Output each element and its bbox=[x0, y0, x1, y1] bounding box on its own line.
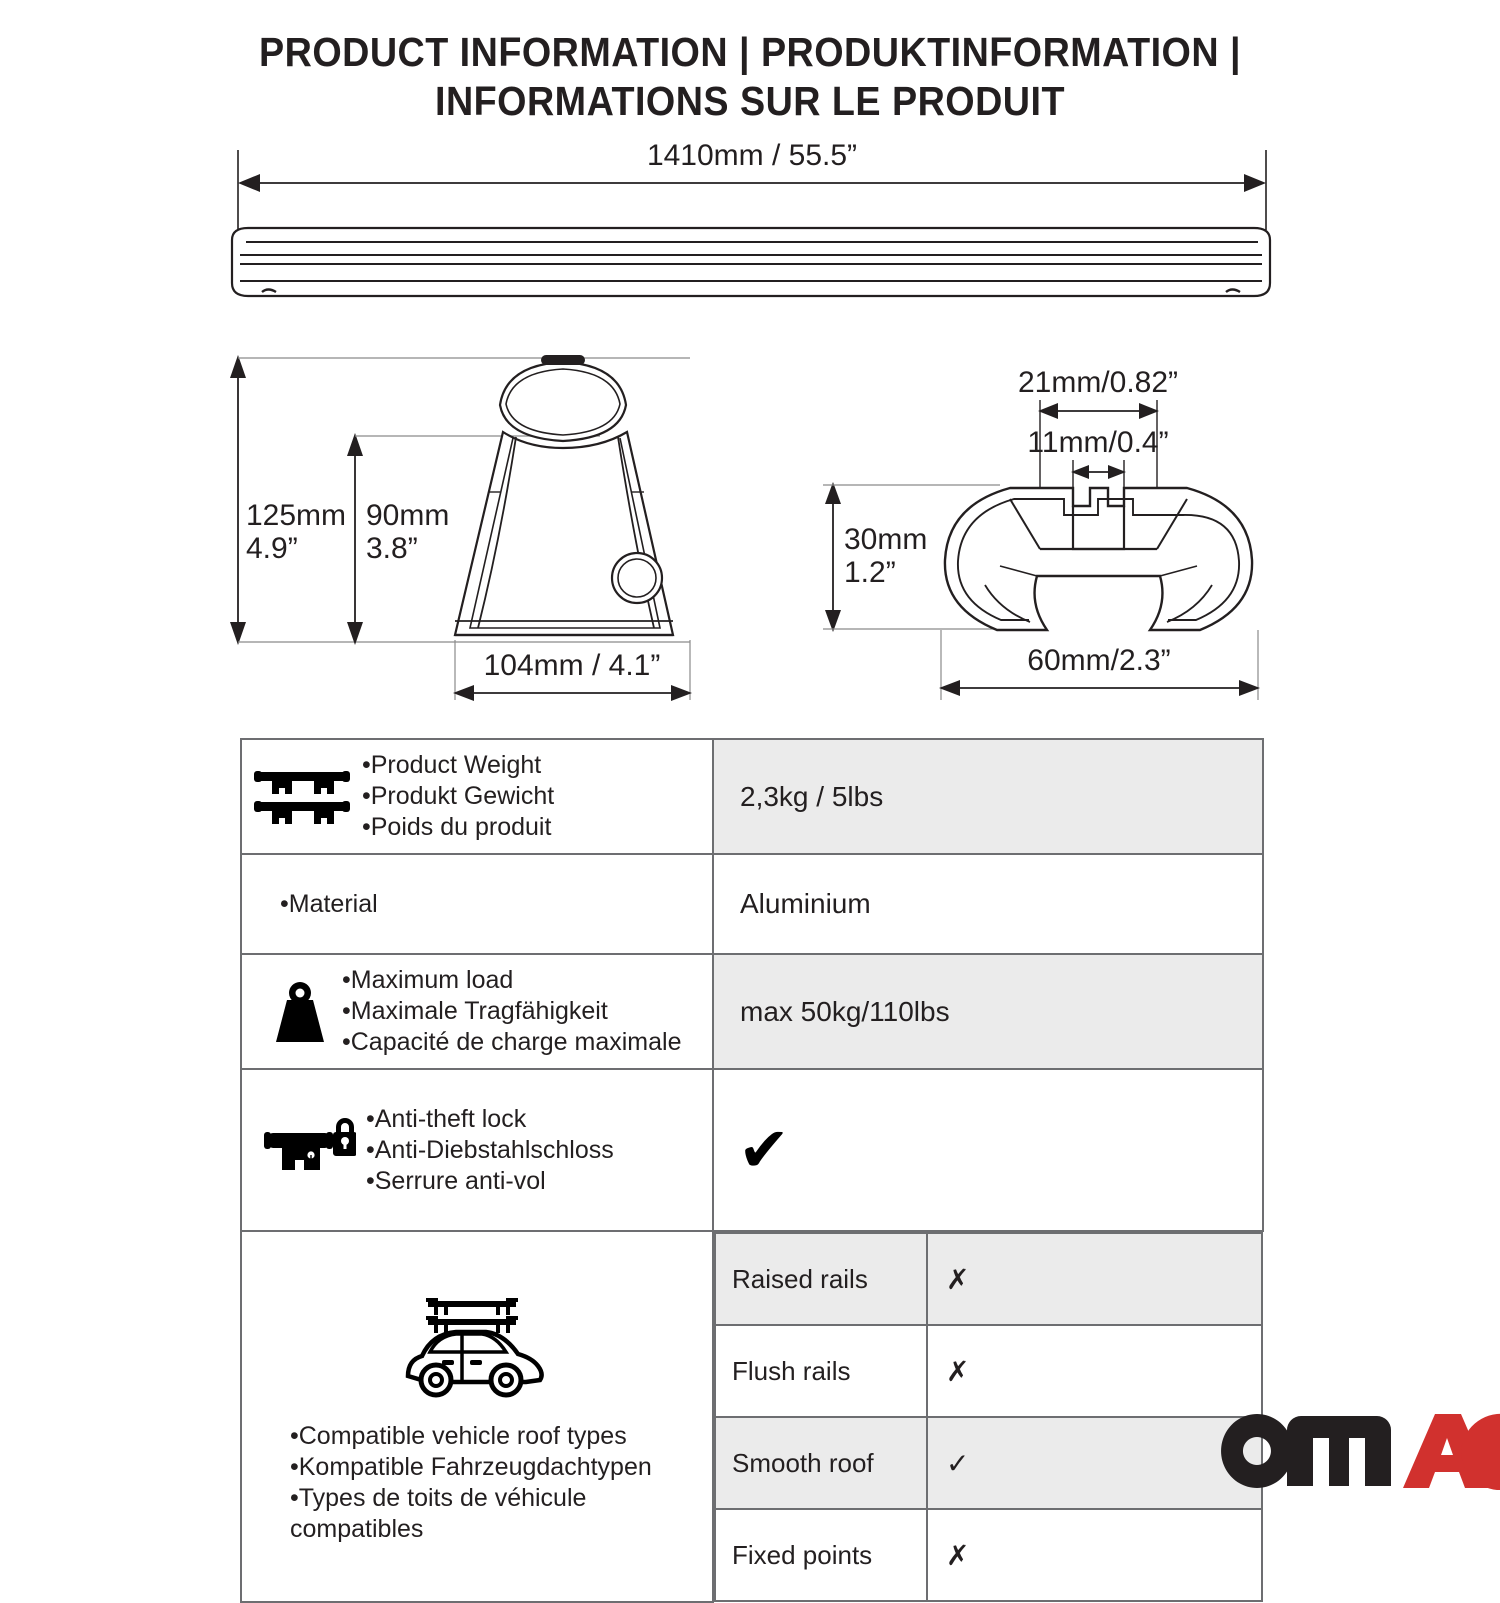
label-line: •Capacité de charge maximale bbox=[342, 1028, 681, 1056]
label-line: •Anti-Diebstahlschloss bbox=[366, 1136, 614, 1164]
omac-logo-dark bbox=[1221, 1414, 1391, 1488]
product-spec-table: •Product Weight •Produkt Gewicht •Poids … bbox=[240, 738, 1264, 1603]
anti-theft-label-cell: •Anti-theft lock •Anti-Diebstahlschloss … bbox=[241, 1069, 713, 1231]
label-line: •Maximale Tragfähigkeit bbox=[342, 997, 608, 1025]
roof-bar-foot-body bbox=[455, 355, 673, 635]
roof-type-mark: ✗ bbox=[927, 1233, 1262, 1325]
cross-section-21mm-label: 21mm/0.82” bbox=[1018, 366, 1178, 399]
roof-bar-top-view bbox=[232, 228, 1270, 296]
anti-theft-labels: •Anti-theft lock •Anti-Diebstahlschloss … bbox=[366, 1104, 614, 1197]
roof-type-row-flush-rails: Flush rails ✗ bbox=[715, 1325, 1262, 1417]
table-row-product-weight: •Product Weight •Produkt Gewicht •Poids … bbox=[241, 739, 1263, 854]
material-label-cell: •Material bbox=[241, 854, 713, 954]
roof-type-row-smooth-roof: Smooth roof ✓ bbox=[715, 1417, 1262, 1509]
roof-type-mark: ✗ bbox=[927, 1325, 1262, 1417]
car-with-roof-bars-icon bbox=[390, 1288, 550, 1413]
compatibility-label-cell: •Compatible vehicle roof types •Kompatib… bbox=[241, 1231, 713, 1602]
material-value-cell: Aluminium bbox=[713, 854, 1263, 954]
product-weight-labels: •Product Weight •Produkt Gewicht •Poids … bbox=[362, 750, 554, 843]
weight-icon bbox=[268, 978, 332, 1046]
cross-section-height-line2: 1.2” bbox=[844, 556, 896, 589]
label-line: •Compatible vehicle roof types bbox=[290, 1422, 627, 1450]
table-row-maximum-load: •Maximum load •Maximale Tragfähigkeit •C… bbox=[241, 954, 1263, 1069]
anti-theft-value-cell: ✔ bbox=[713, 1069, 1263, 1231]
roof-type-name: Smooth roof bbox=[715, 1417, 927, 1509]
roof-bars-icon bbox=[252, 766, 352, 828]
product-weight-value-cell: 2,3kg / 5lbs bbox=[713, 739, 1263, 854]
table-row-compatible-roof-types: •Compatible vehicle roof types •Kompatib… bbox=[241, 1231, 1263, 1602]
roof-type-name: Fixed points bbox=[715, 1509, 927, 1601]
cross-section-height-line1: 30mm bbox=[844, 523, 927, 556]
maximum-load-labels: •Maximum load •Maximale Tragfähigkeit •C… bbox=[342, 965, 681, 1058]
table-row-anti-theft-lock: •Anti-theft lock •Anti-Diebstahlschloss … bbox=[241, 1069, 1263, 1231]
roof-type-mark: ✗ bbox=[927, 1509, 1262, 1601]
top-bar-length-label: 1410mm / 55.5” bbox=[647, 139, 857, 172]
table-row-material: •Material Aluminium bbox=[241, 854, 1263, 954]
side-view-height-90-line1: 90mm bbox=[366, 499, 449, 532]
technical-drawings: 1410mm / 55.5” 125mm 4.9” bbox=[0, 0, 1500, 730]
roof-types-table: Raised rails ✗ Flush rails ✗ Smooth roof… bbox=[714, 1232, 1263, 1602]
label-line: •Poids du produit bbox=[362, 813, 551, 841]
side-view-width-104-label: 104mm / 4.1” bbox=[484, 649, 661, 682]
side-view-height-90-line2: 3.8” bbox=[366, 532, 418, 565]
omac-logo-red bbox=[1403, 1414, 1500, 1490]
roof-type-row-raised-rails: Raised rails ✗ bbox=[715, 1233, 1262, 1325]
roof-types-cell: Raised rails ✗ Flush rails ✗ Smooth roof… bbox=[713, 1231, 1263, 1602]
maximum-load-value: max 50kg/110lbs bbox=[714, 996, 1262, 1028]
roof-type-name: Raised rails bbox=[715, 1233, 927, 1325]
roof-type-name: Flush rails bbox=[715, 1325, 927, 1417]
cross-section-11mm-label: 11mm/0.4” bbox=[1027, 426, 1168, 459]
side-view-height-125-line2: 4.9” bbox=[246, 532, 298, 565]
product-weight-label-cell: •Product Weight •Produkt Gewicht •Poids … bbox=[241, 739, 713, 854]
material-value: Aluminium bbox=[714, 888, 1262, 920]
product-weight-value: 2,3kg / 5lbs bbox=[714, 781, 1262, 813]
label-line: •Maximum load bbox=[342, 966, 513, 994]
cross-section-width-label: 60mm/2.3” bbox=[1027, 644, 1170, 677]
maximum-load-label-cell: •Maximum load •Maximale Tragfähigkeit •C… bbox=[241, 954, 713, 1069]
compatibility-labels: •Compatible vehicle roof types •Kompatib… bbox=[290, 1421, 704, 1545]
maximum-load-value-cell: max 50kg/110lbs bbox=[713, 954, 1263, 1069]
roof-type-row-fixed-points: Fixed points ✗ bbox=[715, 1509, 1262, 1601]
anti-theft-checkmark: ✔ bbox=[714, 1119, 1262, 1181]
label-line: •Types de toits de véhicule compatibles bbox=[290, 1484, 586, 1543]
label-line: •Anti-theft lock bbox=[366, 1105, 526, 1133]
side-view-height-125-line1: 125mm bbox=[246, 499, 346, 532]
label-line: •Serrure anti-vol bbox=[366, 1167, 546, 1195]
label-line: •Product Weight bbox=[362, 751, 541, 779]
roof-type-mark: ✓ bbox=[927, 1417, 1262, 1509]
material-label: •Material bbox=[252, 889, 378, 920]
label-line: •Kompatible Fahrzeugdachtypen bbox=[290, 1453, 652, 1481]
anti-theft-lock-icon bbox=[264, 1115, 356, 1185]
omac-logo bbox=[1219, 1412, 1500, 1490]
label-line: •Produkt Gewicht bbox=[362, 782, 554, 810]
